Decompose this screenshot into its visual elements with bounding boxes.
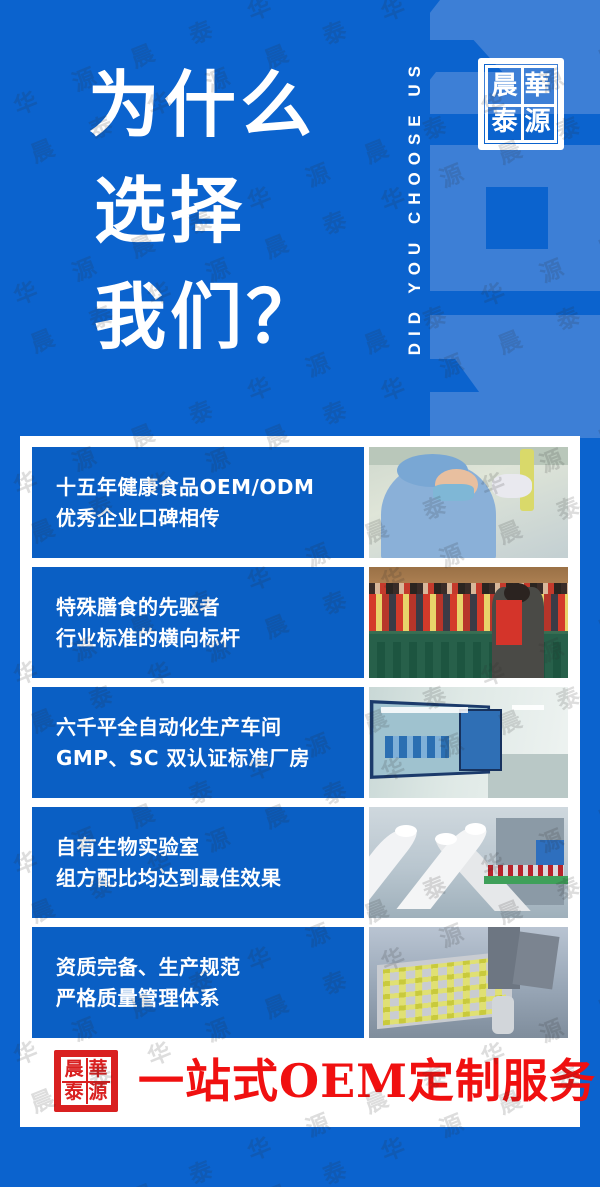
feature-card-line-2: GMP、SC 双认证标准厂房 xyxy=(56,743,364,774)
feature-card-line-2: 严格质量管理体系 xyxy=(56,983,364,1014)
feature-card[interactable]: 十五年健康食品OEM/ODM 优秀企业口碑相传 xyxy=(32,447,568,558)
feature-panel: 十五年健康食品OEM/ODM 优秀企业口碑相传 特殊膳食的先驱者 行业标准的横向… xyxy=(20,436,580,1127)
vertical-english-caption: DID YOU CHOOSE US xyxy=(398,12,432,402)
footer-seal-divider-horizontal xyxy=(62,1081,110,1083)
footer-seal-char-2: 華 xyxy=(86,1058,110,1081)
seal-char-4: 源 xyxy=(521,104,554,140)
footer-slogan-text: 一站式OEM定制服务 xyxy=(138,1058,596,1104)
cleanroom-corridor-photo xyxy=(369,687,568,798)
lab-technician-photo xyxy=(369,447,568,558)
seal-char-3: 泰 xyxy=(488,104,521,140)
feature-card-text: 资质完备、生产规范 严格质量管理体系 xyxy=(32,927,364,1038)
feature-card-line-2: 优秀企业口碑相传 xyxy=(56,503,364,534)
why-letter-h-stroke-2 xyxy=(430,187,486,249)
footer-seal-char-1: 晨 xyxy=(62,1058,86,1081)
why-letter-y-stroke-3 xyxy=(430,392,600,438)
feature-card-text: 十五年健康食品OEM/ODM 优秀企业口碑相传 xyxy=(32,447,364,558)
headline-line-2: 选择 xyxy=(94,158,408,264)
seal-char-1: 晨 xyxy=(488,68,521,104)
blister-packaging-machine-photo xyxy=(369,927,568,1038)
brand-seal-top: 晨 華 泰 源 xyxy=(478,58,564,150)
feature-card-line-1: 资质完备、生产规范 xyxy=(56,952,364,983)
feature-card-line-1: 六千平全自动化生产车间 xyxy=(56,712,364,743)
feature-card-list: 十五年健康食品OEM/ODM 优秀企业口碑相传 特殊膳食的先驱者 行业标准的横向… xyxy=(32,447,568,1047)
vertical-english-text: DID YOU CHOOSE US xyxy=(405,59,425,355)
feature-card-line-1: 自有生物实验室 xyxy=(56,832,364,863)
why-letter-h-stroke-3 xyxy=(548,187,600,249)
feature-card-text: 六千平全自动化生产车间 GMP、SC 双认证标准厂房 xyxy=(32,687,364,798)
why-letter-h-stroke-4 xyxy=(430,249,600,291)
footer-seal-char-4: 源 xyxy=(86,1081,110,1104)
footer-seal-char-3: 泰 xyxy=(62,1081,86,1104)
feature-card-text: 特殊膳食的先驱者 行业标准的横向标杆 xyxy=(32,567,364,678)
feature-card-line-1: 特殊膳食的先驱者 xyxy=(56,592,364,623)
feature-card[interactable]: 六千平全自动化生产车间 GMP、SC 双认证标准厂房 xyxy=(32,687,568,798)
why-letter-y-stroke-2 xyxy=(450,352,600,396)
why-letter-w-stroke-1 xyxy=(430,0,600,40)
production-line-inspection-photo xyxy=(369,807,568,918)
headline-line-1: 为什么 xyxy=(88,52,408,158)
why-letter-h-stroke-1 xyxy=(430,145,600,187)
headline-line-3: 我们？ xyxy=(94,264,408,370)
feature-card-line-2: 组方配比均达到最佳效果 xyxy=(56,863,364,894)
feature-card-line-2: 行业标准的横向标杆 xyxy=(56,623,364,654)
feature-card-line-1: 十五年健康食品OEM/ODM xyxy=(56,472,364,503)
feature-card-text: 自有生物实验室 组方配比均达到最佳效果 xyxy=(32,807,364,918)
feature-card[interactable]: 资质完备、生产规范 严格质量管理体系 xyxy=(32,927,568,1038)
page-title: 为什么 选择 我们？ xyxy=(88,52,408,370)
conference-audience-photo xyxy=(369,567,568,678)
seal-divider-horizontal xyxy=(488,104,554,107)
brand-seal-footer: 晨 華 泰 源 xyxy=(54,1050,118,1112)
footer-slogan-bar: 晨 華 泰 源 一站式OEM定制服务 xyxy=(32,1045,568,1117)
seal-char-2: 華 xyxy=(521,68,554,104)
feature-card[interactable]: 自有生物实验室 组方配比均达到最佳效果 xyxy=(32,807,568,918)
feature-card[interactable]: 特殊膳食的先驱者 行业标准的横向标杆 xyxy=(32,567,568,678)
poster-root: 为什么 选择 我们？ DID YOU CHOOSE US 晨 華 泰 源 十五年… xyxy=(0,0,600,1187)
